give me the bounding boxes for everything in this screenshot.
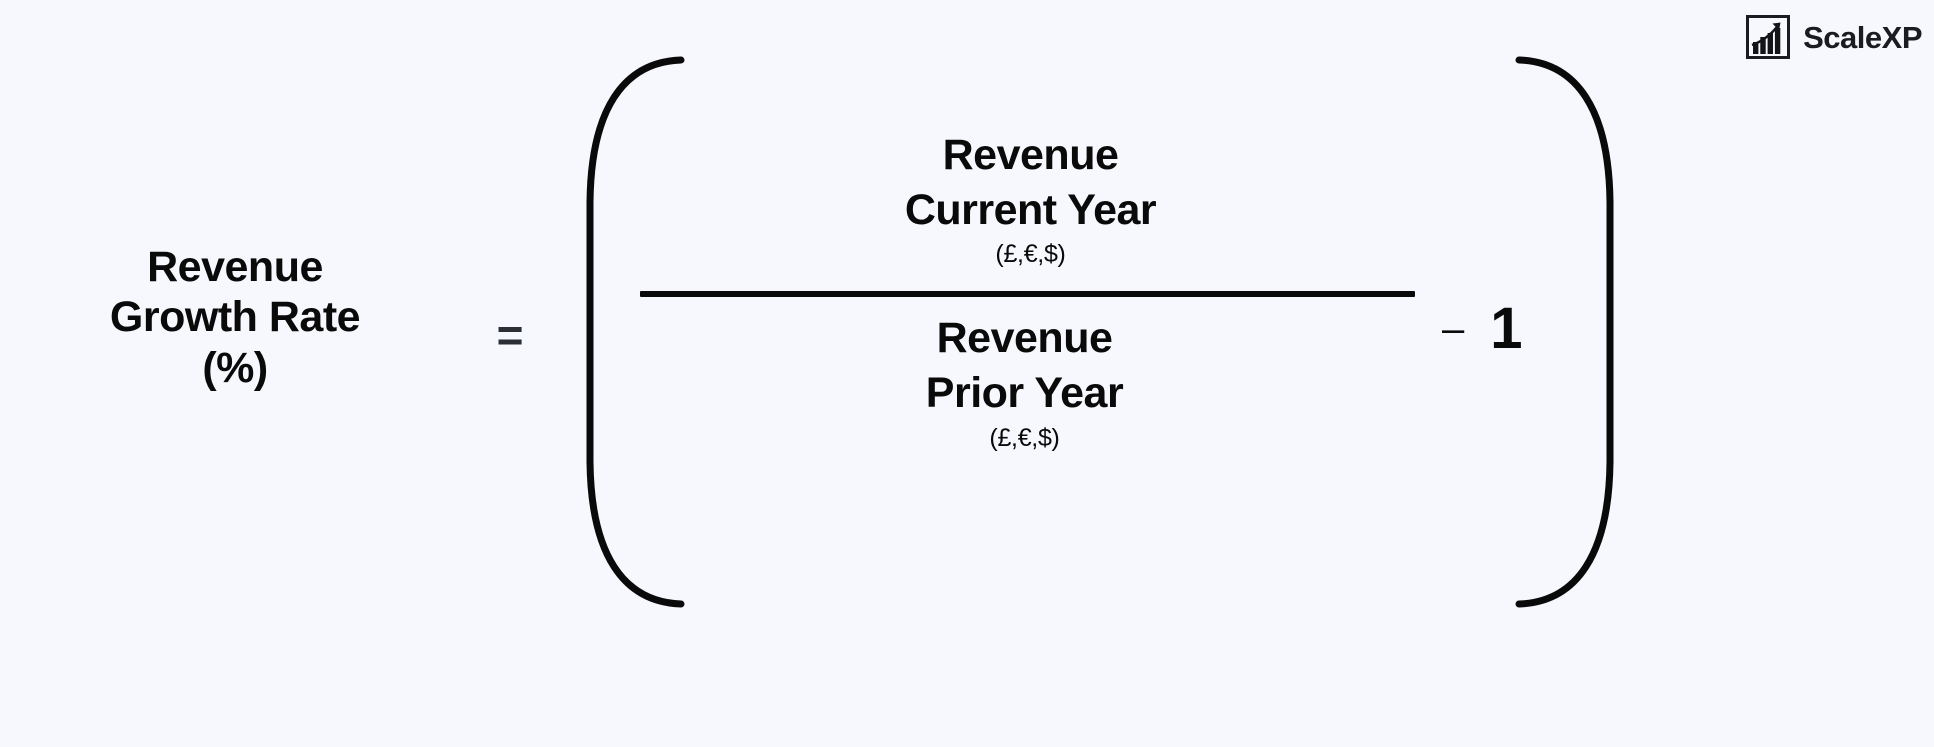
fraction-denominator: Revenue Prior Year (£,€,$) xyxy=(640,311,1415,453)
left-label-line1: Revenue xyxy=(40,242,430,292)
numerator-line1: Revenue xyxy=(646,128,1415,183)
fraction-numerator: Revenue Current Year (£,€,$) xyxy=(640,128,1415,270)
minus-one-group: – 1 xyxy=(1442,300,1523,358)
denominator-units: (£,€,$) xyxy=(640,423,1409,454)
subtrahend-one: 1 xyxy=(1490,300,1522,358)
denominator-line1: Revenue xyxy=(640,311,1409,366)
numerator-units: (£,€,$) xyxy=(646,239,1415,270)
minus-sign: – xyxy=(1442,309,1464,349)
left-label-line3: (%) xyxy=(40,343,430,393)
fraction: Revenue Current Year (£,€,$) Revenue Pri… xyxy=(640,128,1415,454)
fraction-bar xyxy=(640,291,1415,297)
right-parenthesis-icon xyxy=(1505,52,1625,612)
numerator-line2: Current Year xyxy=(646,183,1415,238)
equals-sign: = xyxy=(470,312,550,358)
formula-diagram: Revenue Growth Rate (%) = Revenue Curren… xyxy=(0,0,1934,680)
denominator-line2: Prior Year xyxy=(640,366,1409,421)
formula-left-label: Revenue Growth Rate (%) xyxy=(40,242,430,393)
left-label-line2: Growth Rate xyxy=(40,292,430,342)
